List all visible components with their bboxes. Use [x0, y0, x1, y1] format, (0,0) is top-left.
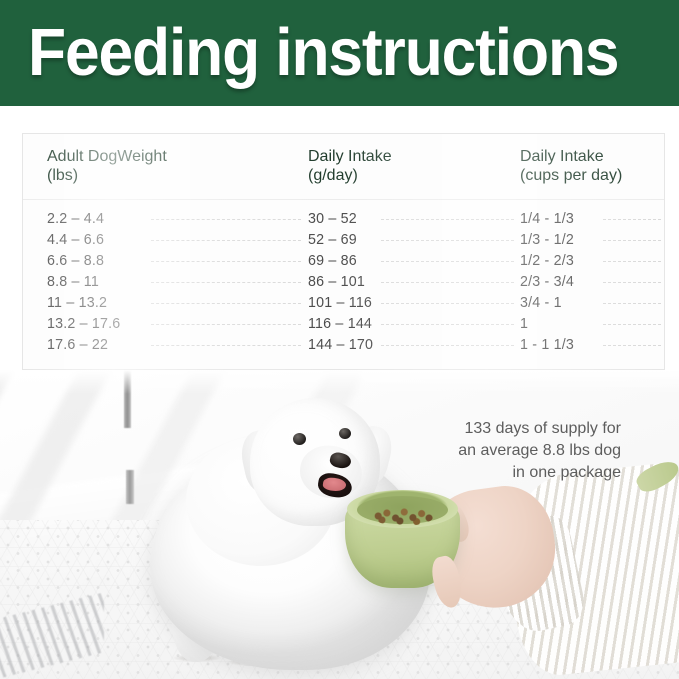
- dog-eye-left: [293, 433, 306, 445]
- supply-note-line1: 133 days of supply for: [381, 418, 621, 440]
- dashed-connector: [381, 324, 514, 325]
- cell-cups: 3/4 - 1: [520, 294, 562, 311]
- metal-stand-leg: [126, 470, 134, 504]
- dashed-connector: [603, 324, 661, 325]
- dashed-connector: [151, 240, 301, 241]
- cell-cups: 1 - 1 1/3: [520, 336, 574, 353]
- cell-grams: 52 – 69: [308, 231, 357, 248]
- table-row: 13.2 – 17.6 116 – 144 1: [23, 313, 664, 334]
- table-row: 17.6 – 22 144 – 170 1 - 1 1/3: [23, 334, 664, 355]
- dashed-connector: [381, 303, 514, 304]
- dashed-connector: [151, 345, 301, 346]
- column-header-weight-line1: Adult DogWeight: [47, 148, 167, 165]
- table-row: 2.2 – 4.4 30 – 52 1/4 - 1/3: [23, 208, 664, 229]
- cell-cups: 1: [520, 315, 528, 332]
- cell-cups: 1/2 - 2/3: [520, 252, 574, 269]
- table-body: 2.2 – 4.4 30 – 52 1/4 - 1/3 4.4 – 6.6 52…: [23, 200, 664, 355]
- cell-weight: 4.4 – 6.6: [47, 231, 104, 248]
- dashed-connector: [381, 261, 514, 262]
- lifestyle-photo: [0, 370, 679, 679]
- cell-weight: 8.8 – 11: [47, 273, 99, 290]
- dashed-connector: [603, 219, 661, 220]
- cell-grams: 116 – 144: [308, 315, 372, 332]
- kibble-pile: [372, 506, 434, 526]
- column-header-grams: Daily Intake(g/day): [308, 147, 392, 185]
- dashed-connector: [603, 261, 661, 262]
- page-title: Feeding instructions: [28, 16, 618, 90]
- dashed-connector: [151, 261, 301, 262]
- cell-cups: 1/3 - 1/2: [520, 231, 574, 248]
- cell-weight: 2.2 – 4.4: [47, 210, 104, 227]
- cell-cups: 1/4 - 1/3: [520, 210, 574, 227]
- header-banner: Feeding instructions: [0, 0, 679, 106]
- cell-weight: 11 – 13.2: [47, 294, 107, 311]
- column-header-cups-line2: (cups per day): [520, 167, 622, 184]
- dashed-connector: [151, 303, 301, 304]
- cell-weight: 6.6 – 8.8: [47, 252, 104, 269]
- cell-weight: 17.6 – 22: [47, 336, 108, 353]
- cell-weight: 13.2 – 17.6: [47, 315, 120, 332]
- dashed-connector: [603, 282, 661, 283]
- dashed-connector: [381, 345, 514, 346]
- dashed-connector: [381, 282, 514, 283]
- column-header-weight-line2: (lbs): [47, 167, 78, 184]
- dashed-connector: [151, 219, 301, 220]
- column-header-cups: Daily Intake(cups per day): [520, 147, 622, 185]
- dashed-connector: [603, 345, 661, 346]
- column-header-cups-line1: Daily Intake: [520, 148, 604, 165]
- cell-grams: 69 – 86: [308, 252, 357, 269]
- dashed-connector: [151, 282, 301, 283]
- dashed-connector: [381, 219, 514, 220]
- table-header-row: Adult DogWeight(lbs) Daily Intake(g/day)…: [23, 134, 664, 200]
- cell-grams: 30 – 52: [308, 210, 357, 227]
- cell-cups: 2/3 - 3/4: [520, 273, 574, 290]
- table-row: 11 – 13.2 101 – 116 3/4 - 1: [23, 292, 664, 313]
- dashed-connector: [381, 240, 514, 241]
- table-row: 4.4 – 6.6 52 – 69 1/3 - 1/2: [23, 229, 664, 250]
- supply-note-line3: in one package: [381, 462, 621, 484]
- supply-note: 133 days of supply for an average 8.8 lb…: [381, 418, 621, 484]
- dashed-connector: [151, 324, 301, 325]
- cell-grams: 86 – 101: [308, 273, 365, 290]
- feeding-instructions-infographic: Feeding instructions Adult DogWeight(lbs…: [0, 0, 679, 679]
- dashed-connector: [603, 303, 661, 304]
- table-row: 6.6 – 8.8 69 – 86 1/2 - 2/3: [23, 250, 664, 271]
- column-header-grams-line2: (g/day): [308, 167, 358, 184]
- table-row: 8.8 – 11 86 – 101 2/3 - 3/4: [23, 271, 664, 292]
- feeding-table: Adult DogWeight(lbs) Daily Intake(g/day)…: [22, 133, 665, 370]
- cell-grams: 101 – 116: [308, 294, 372, 311]
- photo-top-fade: [0, 370, 679, 394]
- dog-eye-right: [339, 428, 351, 439]
- dashed-connector: [603, 240, 661, 241]
- column-header-weight: Adult DogWeight(lbs): [47, 147, 167, 185]
- cell-grams: 144 – 170: [308, 336, 373, 353]
- supply-note-line2: an average 8.8 lbs dog: [381, 440, 621, 462]
- column-header-grams-line1: Daily Intake: [308, 148, 392, 165]
